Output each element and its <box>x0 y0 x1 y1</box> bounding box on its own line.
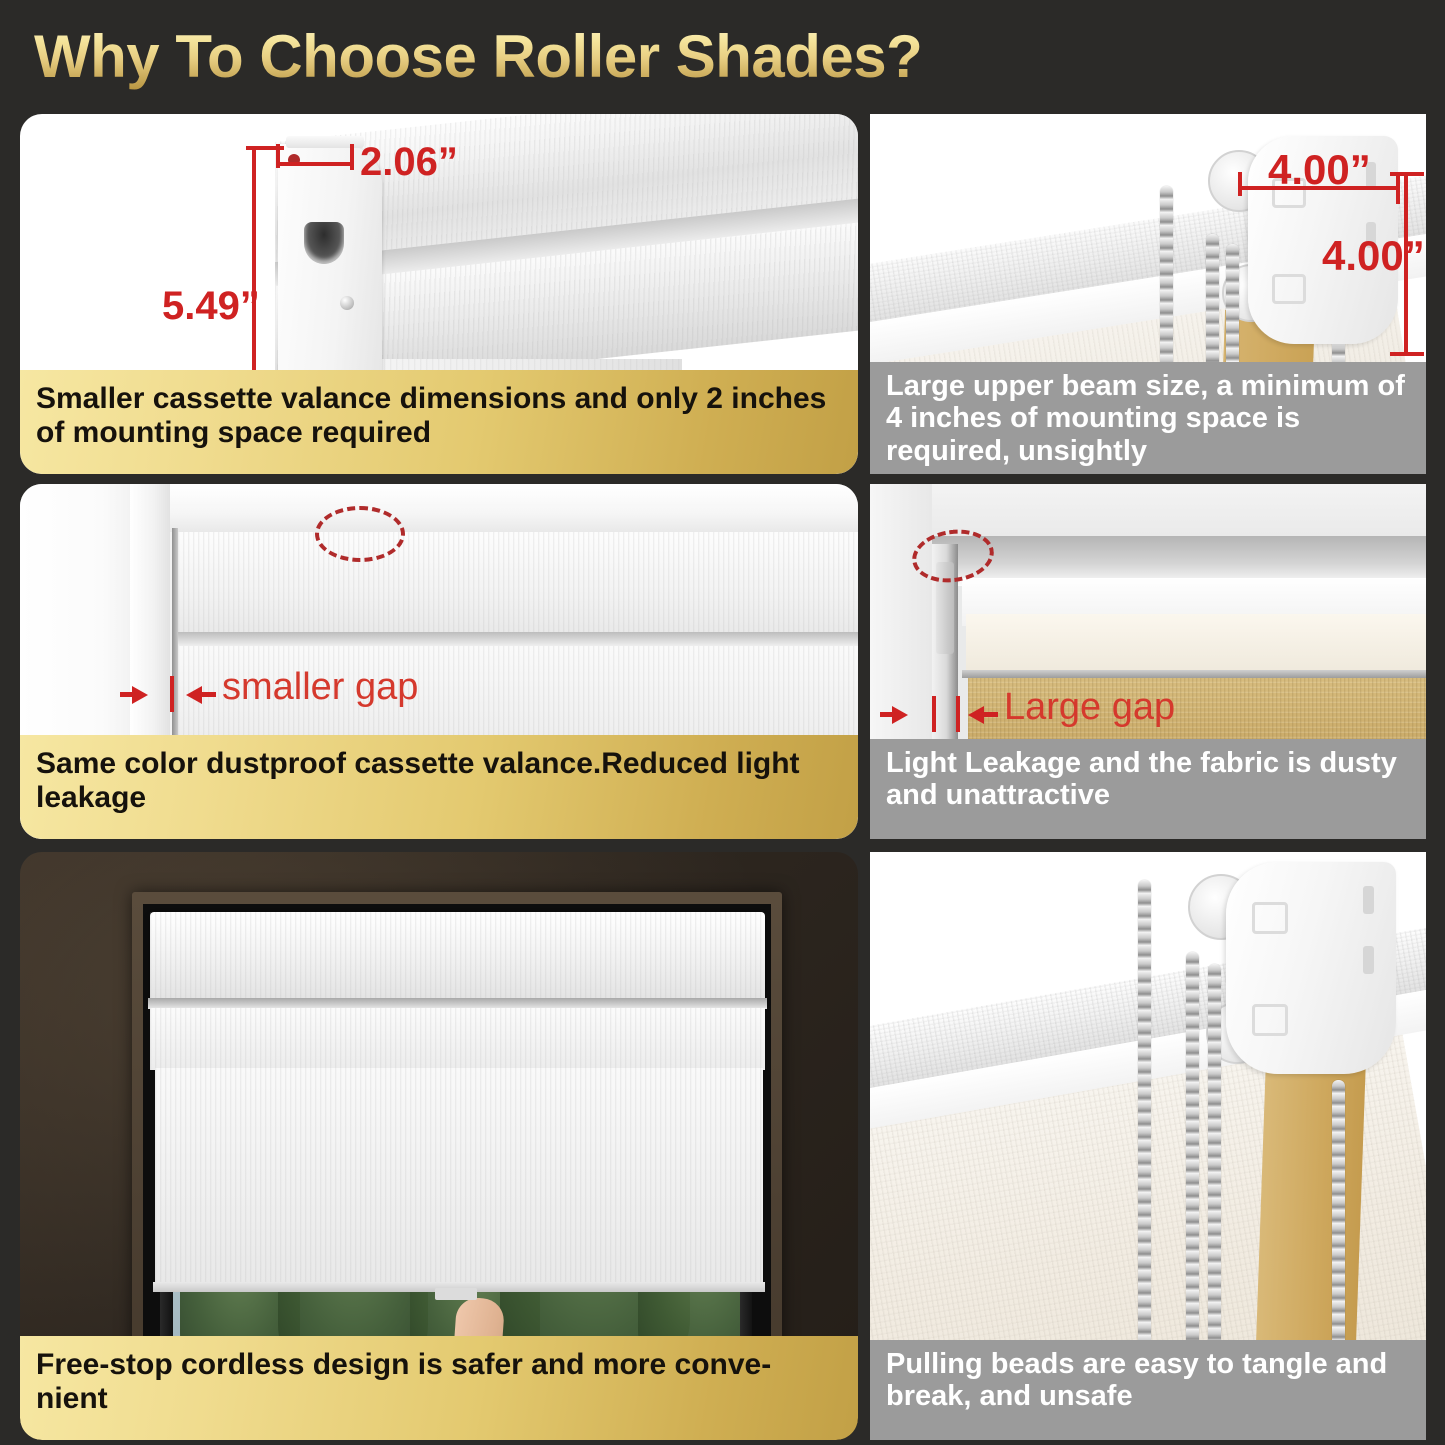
beam-divider <box>962 670 1426 678</box>
panel-5-caption-line1: Free-stop cordless design is safer and m… <box>36 1348 771 1381</box>
bracket-slot-1 <box>1363 886 1374 914</box>
window-header-trim <box>170 484 858 532</box>
mounting-bracket <box>1226 862 1396 1074</box>
width-dimension-label: 4.00” <box>1268 146 1371 194</box>
bracket-symbol-bottom <box>1272 274 1306 304</box>
page-title: Why To Choose Roller Shades? <box>34 22 922 91</box>
bead-chain-2 <box>1186 952 1199 1392</box>
depth-dim-tick-left <box>276 144 280 168</box>
height-dim-tick-bottom-2 <box>1390 352 1424 356</box>
gap-arrow-left-stem <box>880 712 896 717</box>
panel-5-caption-line2: nient <box>36 1382 108 1415</box>
height-dimension-label-2: 4.00” <box>1322 232 1425 280</box>
height-dim-tick-top-2 <box>1390 172 1424 176</box>
depth-dim-line <box>278 162 352 166</box>
panel-pulling-beads: Pulling beads are easy to tangle and bre… <box>870 852 1426 1440</box>
large-gap-label: Large gap <box>1004 686 1175 729</box>
shade-second-section <box>150 1008 765 1070</box>
panel-smaller-gap: smaller gap Same color dustproof cassett… <box>20 484 858 839</box>
bracket-symbol-bottom <box>1252 1004 1288 1036</box>
ceiling-surface <box>870 484 1426 536</box>
panel-4-caption: Light Leakage and the fabric is dusty an… <box>870 739 1426 839</box>
gap-arrow-right-stem <box>200 692 216 697</box>
shade-fabric-body <box>155 1068 763 1288</box>
panel-smaller-cassette: 5.49” 2.06” Smaller cassette valance dim… <box>20 114 858 474</box>
gap-tick <box>170 676 174 712</box>
endcap-hole <box>304 222 344 264</box>
height-dimension-label: 5.49” <box>162 284 260 329</box>
gap-tick-a <box>932 696 936 732</box>
panel-large-upper-beam: 4.00” 4.00” Large upper beam size, a min… <box>870 114 1426 474</box>
shade-pull-handle <box>435 1288 477 1300</box>
beam-cream-face <box>966 614 1426 674</box>
depth-dimension-label: 2.06” <box>360 140 458 185</box>
shade-upper-section <box>178 530 858 640</box>
smaller-gap-label: smaller gap <box>222 666 418 709</box>
endcap-screw <box>340 296 354 310</box>
panel-1-caption: Smaller cassette valance dimensions and … <box>20 370 858 474</box>
gap-arrow-right-stem <box>982 712 998 717</box>
panel-cordless-design: Free-stop cordless design is safer and m… <box>20 852 858 1440</box>
cassette-valance <box>150 912 765 1000</box>
depth-dim-tick-right <box>350 144 354 170</box>
comparison-grid: 5.49” 2.06” Smaller cassette valance dim… <box>0 112 1445 1445</box>
highlight-ellipse-icon <box>315 506 405 562</box>
gap-tick-b <box>956 696 960 732</box>
bead-chain-3 <box>1208 964 1221 1392</box>
width-dim-tick-right <box>1396 176 1400 204</box>
panel-large-gap: Large gap Light Leakage and the fabric i… <box>870 484 1426 839</box>
width-dim-tick-left <box>1238 172 1242 196</box>
page-header: Why To Choose Roller Shades? <box>0 0 1445 112</box>
bracket-slot-2 <box>1363 946 1374 974</box>
panel-2-caption: Large upper beam size, a minimum of 4 in… <box>870 362 1426 474</box>
bracket-symbol-top <box>1252 902 1288 934</box>
panel-6-caption: Pulling beads are easy to tangle and bre… <box>870 1340 1426 1440</box>
panel-3-caption: Same color dustproof cassette valance.Re… <box>20 735 858 839</box>
gap-arrow-left-stem <box>120 692 136 697</box>
shade-mid-rail <box>176 632 858 646</box>
panel-5-caption: Free-stop cordless design is safer and m… <box>20 1336 858 1440</box>
bead-chain-1 <box>1138 880 1151 1392</box>
